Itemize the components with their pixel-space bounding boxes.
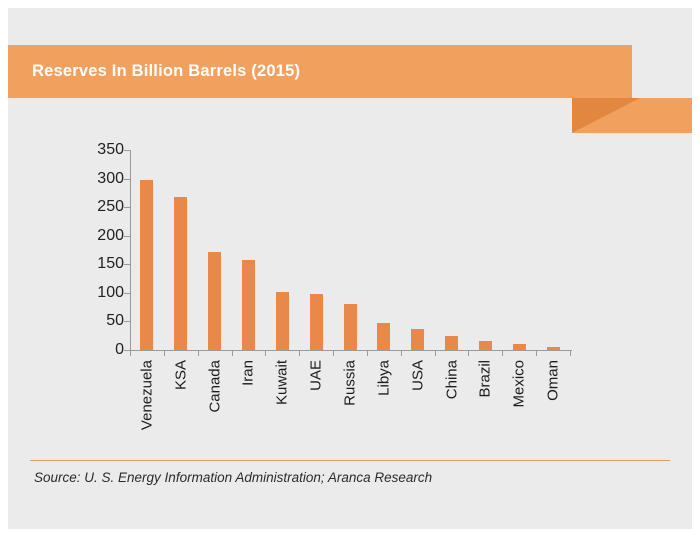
bar-chart: 050100150200250300350 VenezuelaKSACanada… (8, 138, 692, 458)
x-tick-label: Kuwait (274, 360, 291, 405)
x-tick-mark (130, 350, 131, 356)
header-banner: Reserves In Billion Barrels (2015) (8, 45, 692, 138)
y-tick-label: 350 (97, 141, 124, 159)
bar-series (130, 150, 570, 350)
y-tick-mark (124, 321, 130, 322)
bar (344, 304, 357, 350)
y-tick-label: 150 (97, 255, 124, 273)
bar (445, 336, 458, 350)
y-tick-label: 300 (97, 170, 124, 188)
x-tick-mark (468, 350, 469, 356)
x-tick-mark (536, 350, 537, 356)
x-tick-mark (198, 350, 199, 356)
y-tick-mark (124, 207, 130, 208)
x-tick-label: USA (409, 360, 426, 391)
x-tick-label: Russia (342, 360, 359, 406)
y-tick-label: 250 (97, 198, 124, 216)
bar (276, 292, 289, 350)
slide-canvas: Reserves In Billion Barrels (2015) 05010… (8, 8, 692, 529)
x-tick-mark (265, 350, 266, 356)
x-tick-label: Libya (375, 360, 392, 396)
bar (310, 294, 323, 350)
y-tick-label: 50 (106, 312, 124, 330)
bar (377, 323, 390, 350)
x-tick-label: Canada (206, 360, 223, 413)
bar (242, 260, 255, 350)
bar (174, 197, 187, 350)
bar (547, 347, 560, 350)
x-tick-mark (333, 350, 334, 356)
bar (411, 329, 424, 350)
banner-fold-triangle (572, 98, 640, 133)
y-tick-label: 0 (115, 341, 124, 359)
x-tick-label: Brazil (477, 360, 494, 398)
x-tick-mark (401, 350, 402, 356)
y-axis-labels: 050100150200250300350 (68, 143, 124, 357)
x-tick-mark (232, 350, 233, 356)
y-tick-mark (124, 236, 130, 237)
x-tick-label: Oman (545, 360, 562, 401)
x-tick-label: UAE (308, 360, 325, 391)
x-tick-mark (367, 350, 368, 356)
y-tick-mark (124, 179, 130, 180)
y-tick-mark (124, 150, 130, 151)
x-tick-mark (299, 350, 300, 356)
bar (479, 341, 492, 350)
page-title: Reserves In Billion Barrels (2015) (32, 45, 300, 98)
x-axis-labels: VenezuelaKSACanadaIranKuwaitUAERussiaLib… (130, 360, 570, 456)
x-tick-label: Iran (240, 360, 257, 386)
x-tick-mark (570, 350, 571, 356)
x-tick-label: KSA (172, 360, 189, 390)
footer-divider (30, 460, 670, 461)
bar (140, 180, 153, 350)
x-tick-mark (502, 350, 503, 356)
y-tick-label: 100 (97, 284, 124, 302)
x-tick-label: Mexico (511, 360, 528, 408)
x-tick-mark (435, 350, 436, 356)
x-tick-label: Venezuela (138, 360, 155, 430)
x-tick-label: China (443, 360, 460, 399)
y-tick-mark (124, 264, 130, 265)
y-tick-mark (124, 293, 130, 294)
y-tick-label: 200 (97, 227, 124, 245)
bar (208, 252, 221, 350)
x-tick-mark (164, 350, 165, 356)
source-note: Source: U. S. Energy Information Adminis… (34, 470, 432, 485)
x-axis-line (130, 350, 572, 351)
bar (513, 344, 526, 350)
